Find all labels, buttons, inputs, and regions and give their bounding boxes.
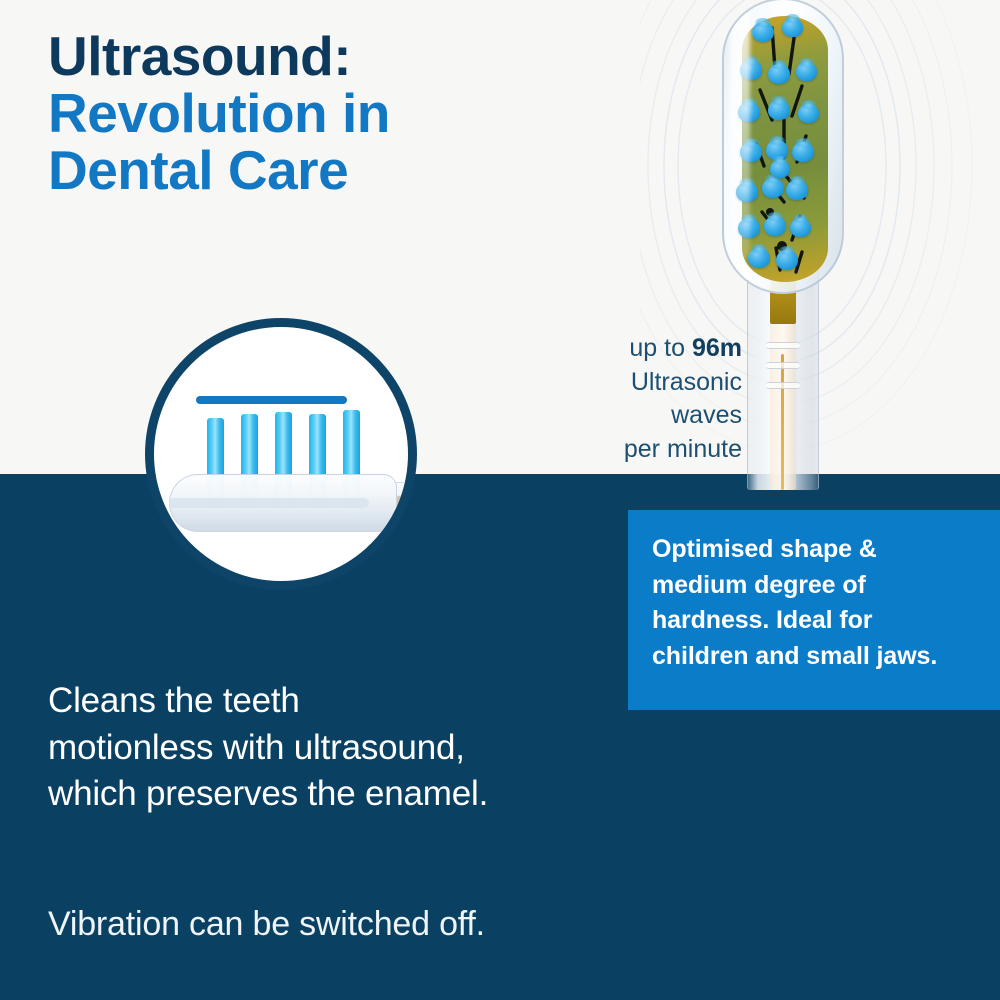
bristle-tuft [768,64,790,84]
inset-photo-bristles [145,318,417,590]
title-line-1: Ultrasound: [48,28,608,85]
title-line-3: Dental Care [48,142,608,199]
footnote-text: Vibration can be switched off. [48,905,688,944]
callout-text: Optimised shape & medium degree of hardn… [652,532,984,674]
spec-caption-line-1: up to 96m [482,332,742,366]
bristle-tuft [792,142,814,162]
blue-indicator-bar [196,396,347,404]
bristle-tuft [798,104,819,123]
bristle-tuft [776,250,798,270]
bristle-tuft [786,180,808,200]
body-copy: Cleans the teeth motionless with ultraso… [48,678,648,818]
title-line-2: Revolution in [48,85,608,142]
brush-head-capsule [722,0,844,294]
spec-caption-line-4: per minute [482,433,742,467]
callout-line-4: children and small jaws. [652,639,984,675]
body-copy-line-2: motionless with ultrasound, [48,725,648,772]
bristle-tuft [790,218,811,237]
bristle-tuft [764,216,786,236]
body-copy-line-3: which preserves the enamel. [48,771,648,818]
shaft-ring [766,342,800,349]
body-copy-line-1: Cleans the teeth [48,678,648,725]
head-gloss-highlight [730,10,750,260]
spec-caption-line-3: waves [482,399,742,433]
spec-prefix: up to [629,334,692,362]
bristle-tuft [752,22,774,42]
spec-value: 96m [692,334,742,362]
spec-caption: up to 96m Ultrasonic waves per minute [482,332,742,466]
shaft-ring [766,382,800,389]
bristle-tuft [768,100,790,120]
infographic-canvas: Ultrasound: Revolution in Dental Care up… [0,0,1000,1000]
bristle-tuft [748,248,770,268]
callout-line-1: Optimised shape & [652,532,984,568]
inset-brush-head-ridge [169,498,369,508]
callout-line-3: hardness. Ideal for [652,603,984,639]
inset-scene [145,318,417,590]
bristle-tuft [796,62,817,81]
shaft-ring [766,362,800,369]
callout-line-2: medium degree of [652,568,984,604]
spec-caption-line-2: Ultrasonic [482,366,742,400]
shaft-wire [781,354,784,490]
bristle-tuft [762,178,784,198]
page-title: Ultrasound: Revolution in Dental Care [48,28,608,199]
callout-box: Optimised shape & medium degree of hardn… [628,510,1000,710]
bristle-tuft [770,160,790,178]
bristle-tuft [782,18,803,37]
